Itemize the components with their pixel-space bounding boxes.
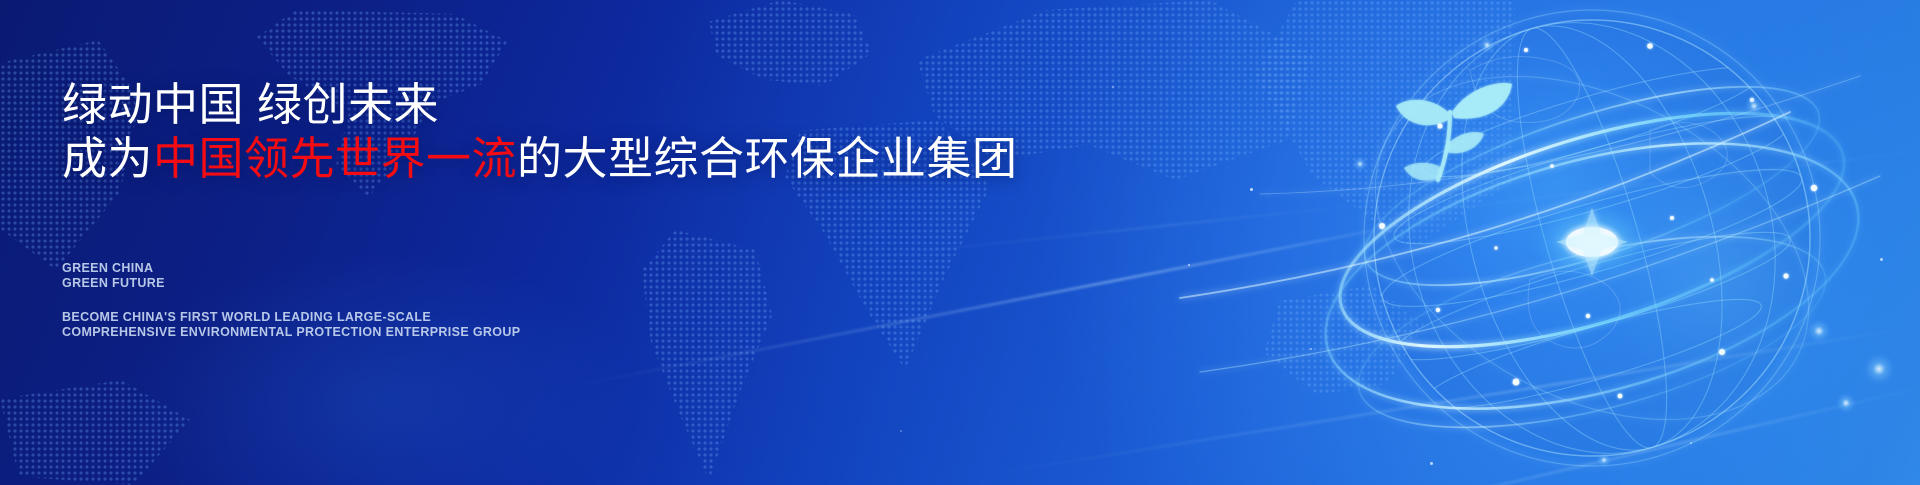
tagline-green-future: GREEN FUTURE [62,276,165,291]
headline-highlight: 中国领先世界一流 [153,133,517,184]
bokeh-particle [1862,352,1896,386]
headline-prefix: 成为 [62,133,153,184]
star-particle [1250,188,1253,191]
halftone-block-right [1255,0,1515,250]
map-continent-oceania [1240,280,1440,410]
light-streak [986,326,1915,475]
tagline-long-line-1: BECOME CHINA'S FIRST WORLD LEADING LARGE… [62,310,431,325]
bokeh-particle [1352,156,1368,172]
star-particle [1690,442,1692,444]
wireframe-globe-graphic [1320,0,1880,485]
tagline-long-line-2: COMPREHENSIVE ENVIRONMENTAL PROTECTION E… [62,325,520,340]
headline-line-1: 绿动中国 绿创未来 [62,78,439,132]
hero-banner: 绿动中国 绿创未来 成为中国领先世界一流的大型综合环保企业集团 GREEN CH… [0,0,1920,485]
sprout-icon [1396,83,1512,181]
banner-copy: 绿动中国 绿创未来 成为中国领先世界一流的大型综合环保企业集团 GREEN CH… [62,0,1122,485]
star-particle [1188,264,1190,266]
bokeh-particle [1835,392,1857,414]
headline-suffix: 的大型综合环保企业集团 [517,133,1018,184]
star-particle [1430,462,1433,465]
headline-line-2: 成为中国领先世界一流的大型综合环保企业集团 [62,132,1018,186]
star-particle [1310,348,1312,350]
globe-ambient-glow [1530,95,1890,455]
bokeh-particle [1806,318,1832,344]
tagline-green-china: GREEN CHINA [62,261,153,276]
bokeh-particle [1478,36,1496,54]
light-streak [1322,148,1920,225]
star-particle [1880,258,1883,261]
bokeh-particle [1596,452,1612,468]
bokeh-particle [1744,96,1764,116]
light-streak [1190,385,1920,485]
